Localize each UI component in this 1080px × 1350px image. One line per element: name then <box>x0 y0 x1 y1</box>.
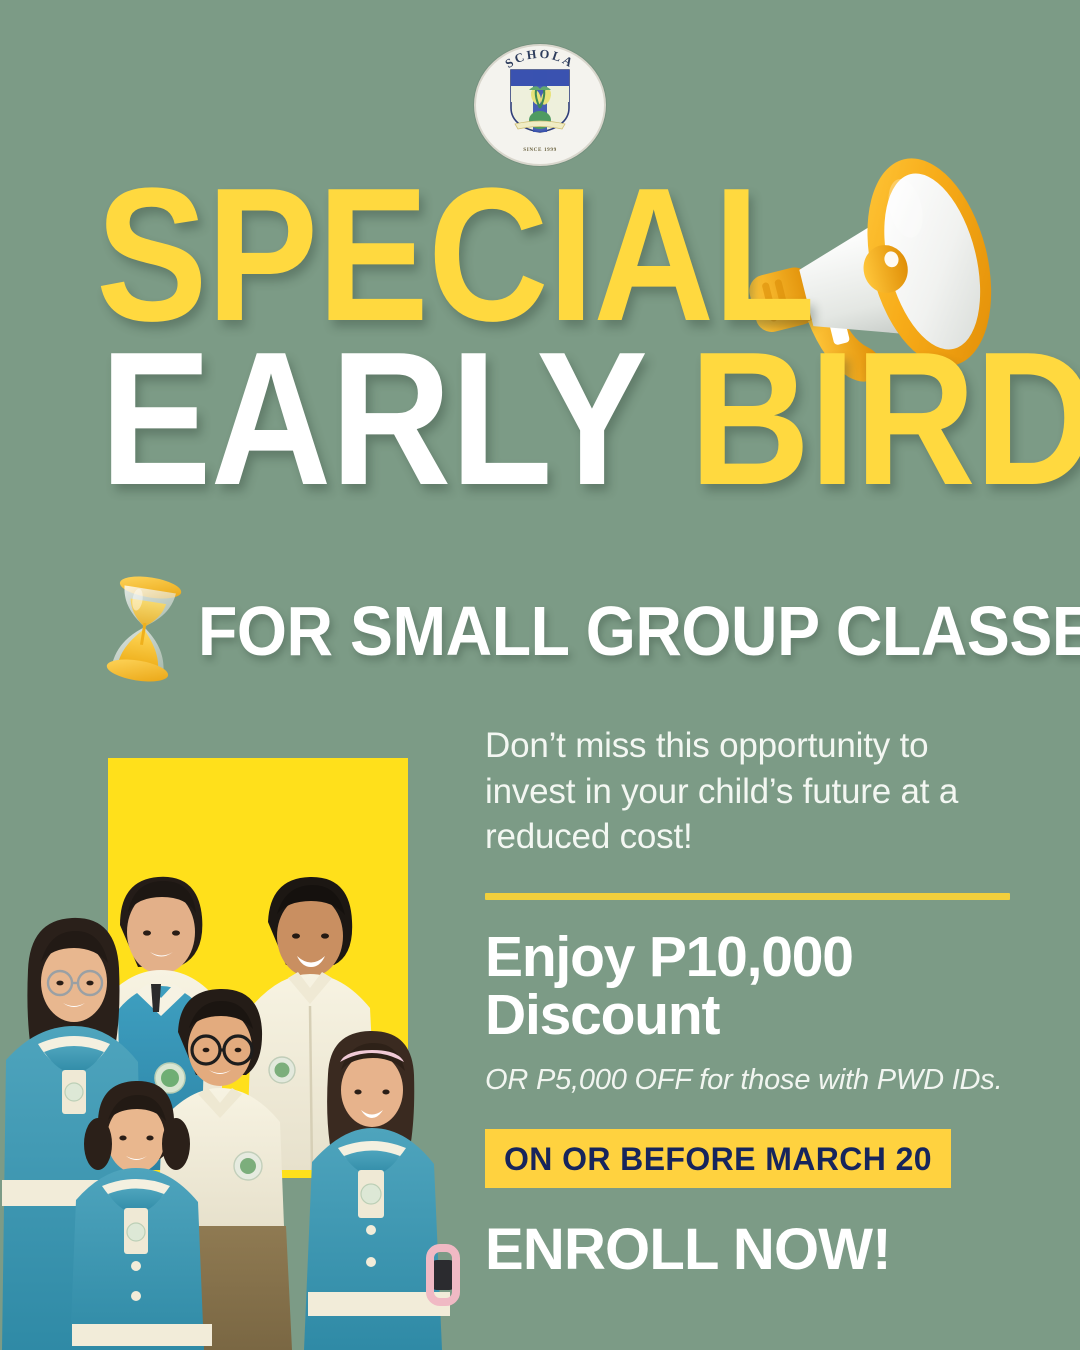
hourglass-icon <box>96 571 192 687</box>
promo-poster: SCHOLA DE VITA SINCE 1999 <box>0 0 1080 1350</box>
headline-line-3: FOR SMALL GROUP CLASSES <box>198 591 1080 671</box>
shield-crest-icon <box>509 68 571 134</box>
headline-early: EARLY <box>100 313 689 525</box>
enroll-now-cta[interactable]: ENROLL NOW! <box>485 1221 1010 1279</box>
students-photo-zone <box>0 700 480 1350</box>
offer-title: Enjoy P10,000 Discount <box>485 928 1010 1045</box>
deadline-badge: ON OR BEFORE MARCH 20 <box>485 1129 951 1188</box>
school-logo: SCHOLA DE VITA SINCE 1999 <box>474 44 606 166</box>
students-group-photo <box>0 700 480 1350</box>
offer-column: Don’t miss this opportunity to invest in… <box>485 723 1010 1279</box>
yellow-divider <box>485 893 1010 900</box>
headline-subline-row: FOR SMALL GROUP CLASSES <box>96 575 1080 687</box>
headline-bird: BIRD! <box>689 313 1080 525</box>
offer-subtext: OR P5,000 OFF for those with PWD IDs. <box>485 1062 1010 1099</box>
headline-line-2: EARLY BIRD! <box>100 340 878 500</box>
lead-paragraph: Don’t miss this opportunity to invest in… <box>485 723 1010 860</box>
headline-block: SPECIAL EARLY BIRD! <box>0 176 1080 499</box>
